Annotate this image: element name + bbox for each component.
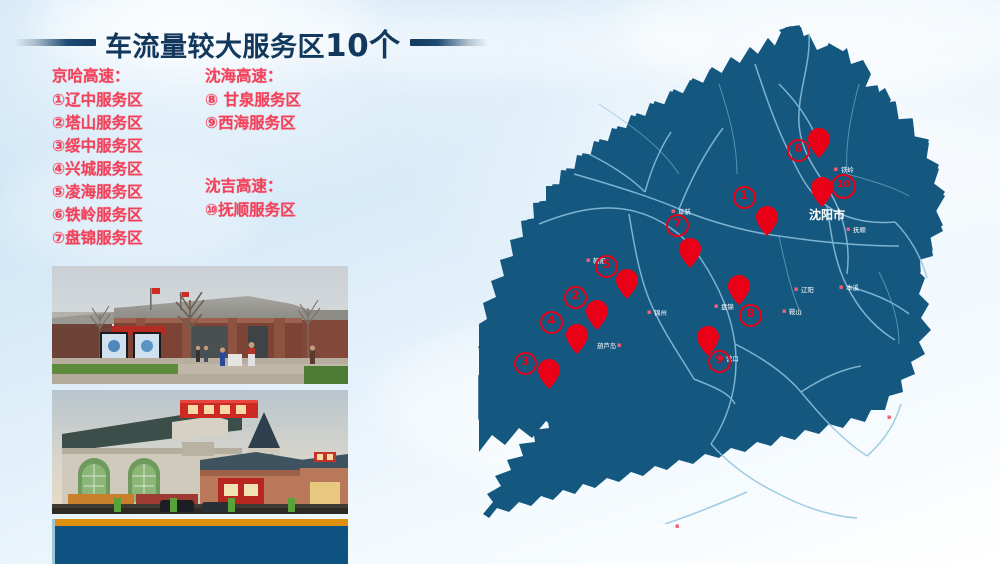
group-label-jingha: 京哈高速：: [52, 65, 143, 88]
svg-text:锦州: 锦州: [654, 308, 667, 317]
marker-badge-1[interactable]: 1: [733, 186, 756, 209]
svg-text:丹东: 丹东: [867, 413, 880, 422]
page-title-number: 10个: [325, 28, 401, 64]
list-item[interactable]: ⑧ 甘泉服务区: [205, 89, 301, 112]
marker-badge-2[interactable]: 2: [564, 286, 587, 309]
service-area-photo-1[interactable]: [52, 266, 348, 384]
svg-text:盘锦: 盘锦: [721, 302, 734, 311]
list-item[interactable]: ③绥中服务区: [52, 135, 143, 158]
photo-2-graphic: [52, 390, 348, 514]
slide-canvas: 车流量较大服务区10个 京哈高速： ①辽中服务区 ②塔山服务区 ③绥中服务区 ④…: [0, 0, 1000, 564]
city-dandong: 丹东: [867, 413, 891, 422]
page-title-block: 车流量较大服务区10个: [14, 20, 434, 64]
list-item[interactable]: ⑦盘锦服务区: [52, 227, 143, 250]
group-label-shenhai: 沈海高速：: [205, 65, 301, 88]
page-title-text: 车流量较大服务区: [105, 32, 325, 63]
list-item[interactable]: ⑨西海服务区: [205, 112, 301, 135]
city-dalian: 大连: [655, 522, 679, 531]
page-title: 车流量较大服务区10个: [105, 20, 401, 65]
list-item[interactable]: ⑩抚顺服务区: [205, 199, 301, 222]
marker-badge-6[interactable]: 6: [787, 139, 810, 162]
marker-badge-7[interactable]: 7: [666, 214, 689, 237]
marker-badge-9[interactable]: 9: [708, 350, 731, 373]
bottom-orange-bar: [55, 519, 348, 526]
marker-badge-8[interactable]: 8: [739, 304, 762, 327]
highway-list-left: 京哈高速： ①辽中服务区 ②塔山服务区 ③绥中服务区 ④兴城服务区 ⑤凌海服务区…: [52, 65, 143, 250]
bottom-blue-panel: [55, 526, 348, 564]
list-spacer: [205, 135, 301, 175]
svg-text:辽阳: 辽阳: [801, 285, 814, 294]
svg-text:本溪: 本溪: [846, 283, 859, 292]
marker-badge-4[interactable]: 4: [540, 311, 563, 334]
list-item[interactable]: ⑤凌海服务区: [52, 181, 143, 204]
svg-text:铁岭: 铁岭: [841, 165, 854, 174]
capital-label: 沈阳市: [809, 207, 845, 222]
marker-badge-3[interactable]: 3: [514, 352, 537, 375]
highway-list-right: 沈海高速： ⑧ 甘泉服务区 ⑨西海服务区 沈吉高速： ⑩抚顺服务区: [205, 65, 301, 222]
liaoning-map[interactable]: 铁岭 阜新 抚顺 本溪 辽阳: [436, 24, 992, 556]
title-rule-left-icon: [14, 39, 96, 46]
svg-text:鞍山: 鞍山: [789, 307, 802, 316]
list-item[interactable]: ④兴城服务区: [52, 158, 143, 181]
svg-text:抚顺: 抚顺: [853, 225, 866, 234]
service-area-photo-2[interactable]: [52, 390, 348, 514]
liaoning-map-svg: 铁岭 阜新 抚顺 本溪 辽阳: [436, 24, 992, 556]
group-label-shenji: 沈吉高速：: [205, 175, 301, 198]
photo-1-graphic: [52, 266, 348, 384]
svg-text:大连: 大连: [655, 522, 668, 531]
list-item[interactable]: ①辽中服务区: [52, 89, 143, 112]
list-item[interactable]: ⑥铁岭服务区: [52, 204, 143, 227]
marker-badge-5[interactable]: 5: [595, 255, 618, 278]
marker-badge-10[interactable]: 10: [831, 174, 856, 199]
svg-text:葫芦岛: 葫芦岛: [597, 341, 616, 350]
list-item[interactable]: ②塔山服务区: [52, 112, 143, 135]
